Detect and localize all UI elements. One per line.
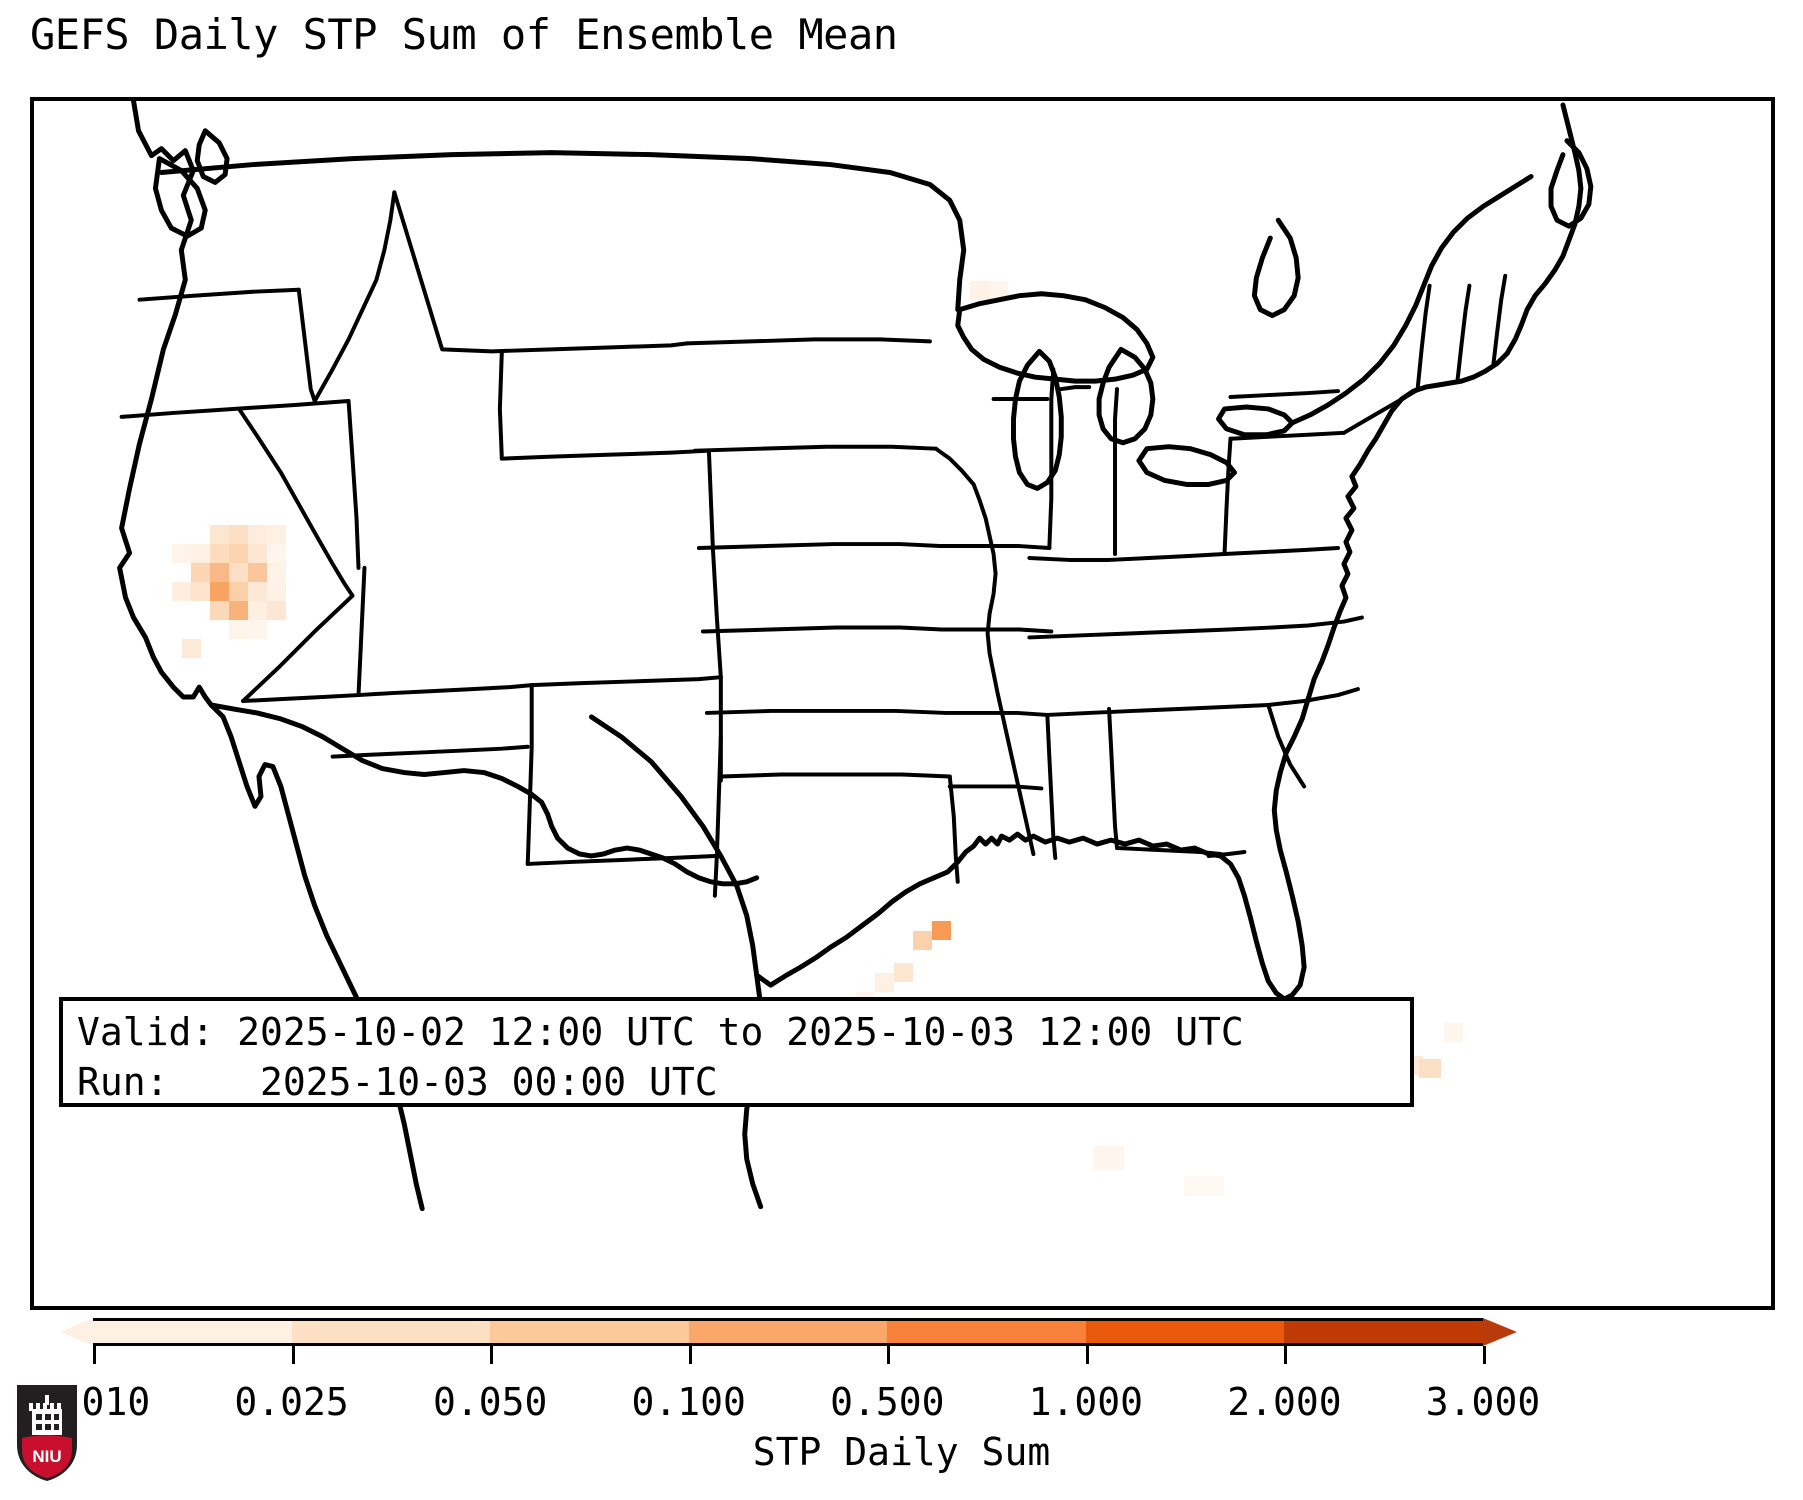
colorbar-segment [292, 1321, 491, 1343]
colorbar [0, 1318, 1803, 1378]
map-canvas [34, 101, 1771, 1306]
colorbar-tick-label: 0.025 [234, 1380, 348, 1424]
page-title: GEFS Daily STP Sum of Ensemble Mean [30, 10, 898, 59]
colorbar-tick [1284, 1346, 1287, 1364]
colorbar-tick [490, 1346, 493, 1364]
info-box: Valid: 2025-10-02 12:00 UTC to 2025-10-0… [59, 997, 1414, 1107]
colorbar-segment [689, 1321, 888, 1343]
state-border-group [122, 192, 1506, 895]
colorbar-tick [1483, 1346, 1486, 1364]
colorbar-tick-label: 0.500 [830, 1380, 944, 1424]
colorbar-tick-label: 2.000 [1227, 1380, 1341, 1424]
niu-wordmark: NIU [32, 1447, 61, 1466]
colorbar-gradient [93, 1318, 1483, 1346]
colorbar-segment [1284, 1321, 1483, 1343]
colorbar-tick [1086, 1346, 1089, 1364]
colorbar-under-arrow [60, 1318, 94, 1346]
colorbar-tick [887, 1346, 890, 1364]
colorbar-segment [490, 1321, 689, 1343]
colorbar-tick [689, 1346, 692, 1364]
colorbar-segment [93, 1321, 292, 1343]
colorbar-tick [292, 1346, 295, 1364]
colorbar-over-arrow [1483, 1318, 1517, 1346]
geography-layer [34, 101, 1771, 1306]
colorbar-segment [1086, 1321, 1285, 1343]
colorbar-tick-label: 0.100 [632, 1380, 746, 1424]
colorbar-segment [887, 1321, 1086, 1343]
colorbar-tick-label: 1.000 [1029, 1380, 1143, 1424]
colorbar-tick [93, 1346, 96, 1364]
valid-time-line: Valid: 2025-10-02 12:00 UTC to 2025-10-0… [77, 1007, 1396, 1057]
colorbar-title: STP Daily Sum [0, 1430, 1803, 1474]
colorbar-ticks [93, 1346, 1483, 1364]
colorbar-tick-label: 0.050 [433, 1380, 547, 1424]
colorbar-tick-label: 3.000 [1426, 1380, 1540, 1424]
niu-logo: NIU [14, 1383, 80, 1483]
map-frame [30, 97, 1775, 1310]
run-time-line: Run: 2025-10-03 00:00 UTC [77, 1057, 1396, 1107]
colorbar-tick-labels: 0.0100.0250.0500.1000.5001.0002.0003.000 [0, 1380, 1803, 1430]
